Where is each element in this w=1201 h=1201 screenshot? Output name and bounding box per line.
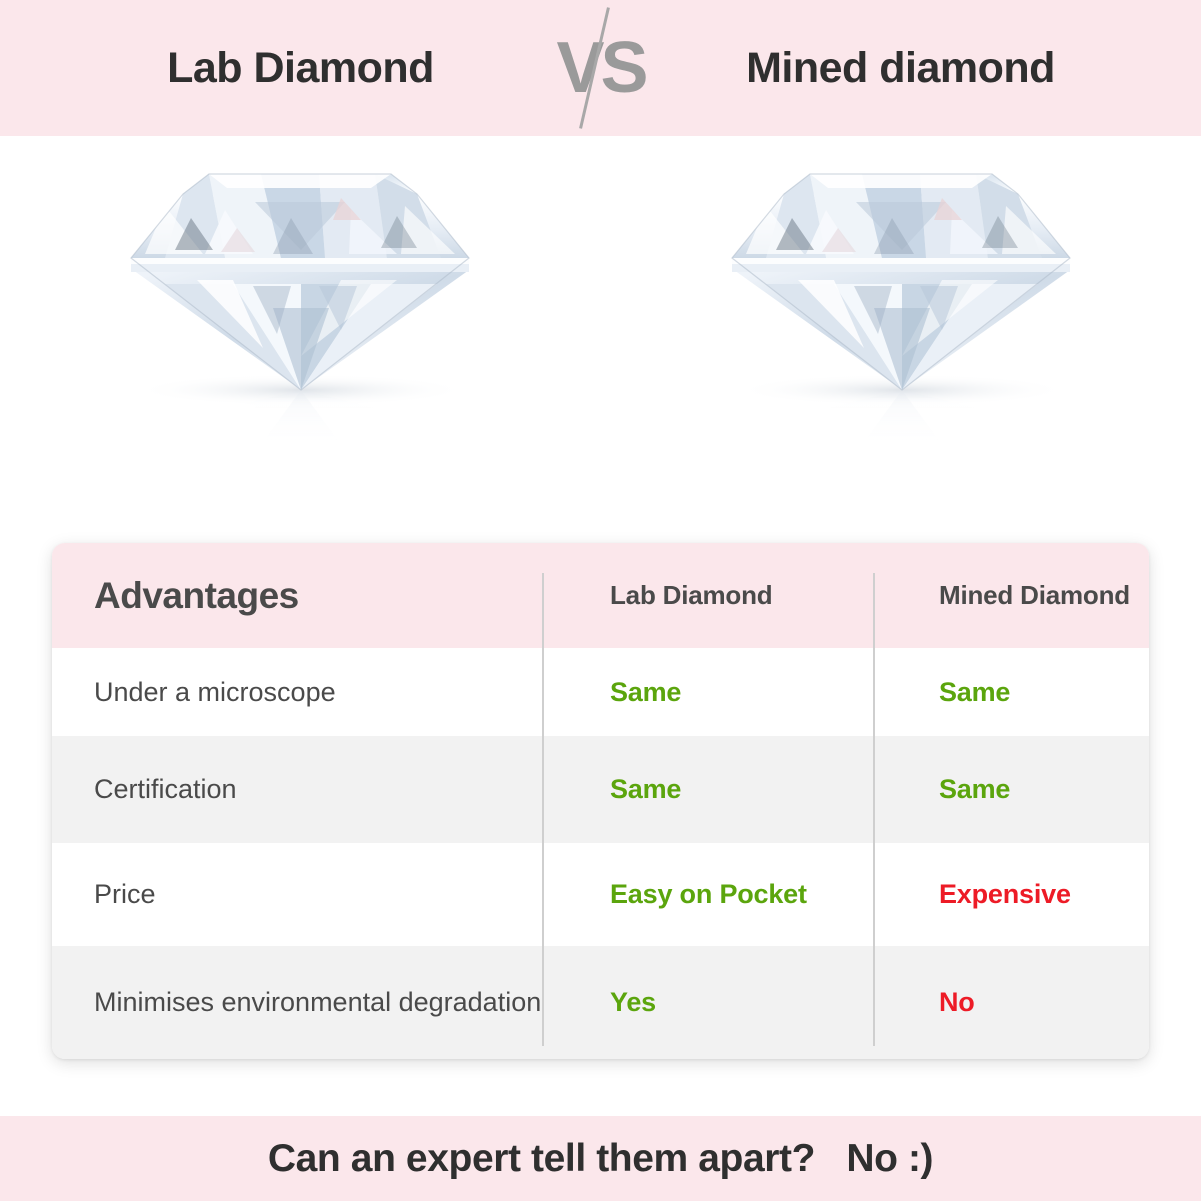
row-value-lab: Yes [610,987,656,1017]
row-value-cell-lab: Same [542,677,873,708]
row-label: Price [94,879,156,909]
header-label-mined-diamond: Mined Diamond [939,580,1130,610]
header-band: Lab Diamond VS Mined diamond [0,0,1201,136]
diamond-image-area [0,136,1201,536]
diamond-icon [706,158,1096,458]
diamond-cell-mined [601,136,1201,536]
table-row: Under a microscope Same Same [52,648,1149,736]
row-value-cell-mined: Same [873,774,1149,805]
row-label-cell: Under a microscope [52,673,542,711]
row-value-mined: Same [939,677,1010,707]
column-divider-1 [542,573,544,1046]
footer-question: Can an expert tell them apart? No :) [268,1137,933,1181]
header-title-lab: Lab Diamond [66,44,536,93]
table-row: Price Easy on Pocket Expensive [52,843,1149,946]
row-value-cell-mined: No [873,987,1149,1018]
table-header-cell-mined: Mined Diamond [873,580,1149,611]
row-label: Under a microscope [94,677,336,707]
row-value-cell-lab: Same [542,774,873,805]
row-value-mined: Expensive [939,879,1071,909]
infographic-page: Lab Diamond VS Mined diamond [0,0,1201,1201]
diamond-cell-lab [0,136,601,536]
table-row: Minimises environmental degradation Yes … [52,946,1149,1059]
row-value-lab: Easy on Pocket [610,879,807,909]
row-value-cell-lab: Yes [542,987,873,1018]
row-value-cell-lab: Easy on Pocket [542,879,873,910]
row-value-mined: Same [939,774,1010,804]
row-label: Certification [94,774,237,804]
table-header-cell-advantages: Advantages [52,575,542,617]
table-header-cell-lab: Lab Diamond [542,580,873,611]
header-title-mined: Mined diamond [666,44,1136,93]
row-label-cell: Price [52,875,542,913]
row-value-cell-mined: Same [873,677,1149,708]
row-value-lab: Same [610,677,681,707]
footer-band: Can an expert tell them apart? No :) [0,1116,1201,1201]
versus-badge: VS [536,0,666,136]
row-value-lab: Same [610,774,681,804]
diamond-icon [105,158,495,458]
header-label-lab-diamond: Lab Diamond [610,580,772,610]
row-label: Minimises environmental degradation [94,987,541,1017]
row-value-cell-mined: Expensive [873,879,1149,910]
header-label-advantages: Advantages [94,575,299,616]
table-header-row: Advantages Lab Diamond Mined Diamond [52,543,1149,648]
row-label-cell: Minimises environmental degradation [52,983,542,1021]
row-label-cell: Certification [52,770,542,808]
lab-diamond-figure [105,158,495,458]
row-value-mined: No [939,987,975,1017]
table-row: Certification Same Same [52,736,1149,843]
mined-diamond-figure [706,158,1096,458]
column-divider-2 [873,573,875,1046]
comparison-table: Advantages Lab Diamond Mined Diamond Und… [52,543,1149,1059]
